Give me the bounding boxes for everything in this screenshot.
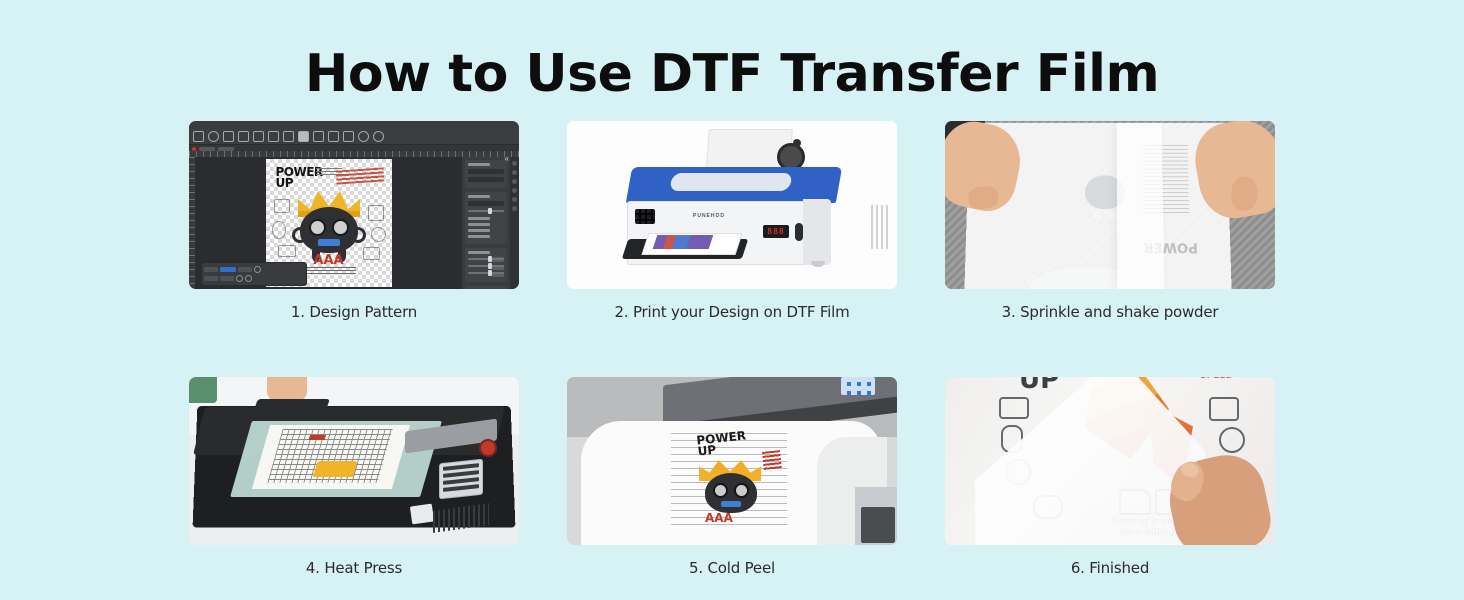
panel-display-row <box>443 484 479 492</box>
printer-brand-label: PUNEHOD <box>693 213 725 219</box>
ghost-eye-left <box>1093 211 1102 220</box>
panel-icon-rail[interactable] <box>510 157 519 289</box>
step-card-3: POWER 3. Sprinkle and shake powder <box>945 121 1275 321</box>
machine-label-tag <box>410 504 434 525</box>
tool-lasso-icon[interactable] <box>253 131 264 142</box>
toolbar-chip[interactable] <box>238 267 252 272</box>
contrast-slider[interactable] <box>468 265 504 267</box>
press-control-panel[interactable] <box>841 377 875 395</box>
toolbar-row[interactable] <box>204 266 304 273</box>
printer-side-knob[interactable] <box>795 223 803 241</box>
tool-scissors-icon[interactable] <box>328 131 339 142</box>
design-red-accent <box>308 435 325 440</box>
panel-slider[interactable] <box>468 210 504 212</box>
design-word-speed: SPEED <box>1200 377 1233 381</box>
page-title: How to Use DTF Transfer Film <box>0 44 1464 104</box>
step-caption-5: 5. Cold Peel <box>567 559 897 577</box>
design-crown <box>313 461 358 477</box>
toolbar-dot-icon[interactable] <box>236 275 243 282</box>
green-chair <box>189 377 217 403</box>
panel-section-label <box>468 251 490 254</box>
artwork-tagline <box>302 267 356 275</box>
app-toolbar[interactable] <box>189 129 519 145</box>
panel-section-label <box>468 195 490 198</box>
toolbar-row[interactable] <box>204 275 304 282</box>
tool-fill-icon[interactable] <box>298 131 309 142</box>
panel-field[interactable] <box>468 201 504 206</box>
infographic-page: How to Use DTF Transfer Film <box>0 0 1464 600</box>
step-card-6: UP ENERGY SPEED <box>945 377 1275 577</box>
printer-scene: PUNEHOD 888 <box>567 121 897 289</box>
doodle-shape <box>371 227 386 242</box>
toolbar-chip[interactable] <box>204 267 218 272</box>
transferred-design: POWERUP AAA <box>671 433 787 529</box>
saturation-slider[interactable] <box>468 272 504 274</box>
printer-body-side <box>803 199 831 265</box>
ghost-eye-right <box>1108 211 1117 220</box>
panel-section-label <box>468 217 490 220</box>
robot-arm-left <box>292 227 308 243</box>
canvas-floating-toolbar[interactable] <box>201 262 307 286</box>
tool-frame-icon[interactable] <box>343 131 354 142</box>
machine-control-panel[interactable] <box>439 459 483 500</box>
cold-peel-scene: POWERUP AAA <box>567 377 897 545</box>
printer-keypad[interactable] <box>635 209 655 224</box>
step-caption-1: 1. Design Pattern <box>189 303 519 321</box>
toolbar-chip[interactable] <box>220 276 234 281</box>
machine-handle[interactable] <box>252 399 330 415</box>
step-card-4: 4. Heat Press <box>189 377 519 577</box>
step-caption-2: 2. Print your Design on DTF Film <box>567 303 897 321</box>
doodle-shape <box>368 205 384 221</box>
app-titlebar <box>189 121 519 129</box>
film-fold <box>1117 123 1165 289</box>
tool-brush-icon[interactable] <box>238 131 249 142</box>
doodle-shape <box>274 199 290 213</box>
press-base-mechanism <box>861 507 895 543</box>
printer-vents <box>871 205 889 249</box>
toolbar-dot-icon[interactable] <box>254 266 261 273</box>
panel-section-label <box>468 223 490 226</box>
doodle-shape <box>272 221 286 239</box>
rail-icon <box>512 170 517 175</box>
design-red-text <box>762 450 782 472</box>
panel-field[interactable] <box>468 177 504 182</box>
step-image-cold-peel[interactable]: POWERUP AAA <box>567 377 897 545</box>
doodle-shape <box>999 397 1029 419</box>
robot-arm-right <box>350 227 366 243</box>
rail-icon <box>512 179 517 184</box>
printer-foot <box>811 261 825 267</box>
panel-field[interactable] <box>468 169 504 174</box>
artwork-monogram: AAA <box>313 253 343 268</box>
design-eye-left <box>713 483 728 498</box>
step-image-finished[interactable]: UP ENERGY SPEED <box>945 377 1275 545</box>
step-card-5: POWERUP AAA <box>567 377 897 577</box>
design-monogram: AAA <box>705 511 733 525</box>
doodle-shape <box>363 247 380 260</box>
tool-pen-icon[interactable] <box>268 131 279 142</box>
toolbar-chip-active[interactable] <box>220 267 236 272</box>
step-caption-3: 3. Sprinkle and shake powder <box>945 303 1275 321</box>
printer-led-display: 888 <box>763 225 789 238</box>
design-robot-head <box>705 473 757 513</box>
panel-section-template[interactable] <box>465 160 507 188</box>
step-card-2: PUNEHOD 888 2. Print your Design on DTF … <box>567 121 897 321</box>
step-card-1: POWERUP <box>189 121 519 321</box>
design-word-up: UP <box>1019 377 1059 395</box>
toolbar-dot-icon[interactable] <box>245 275 252 282</box>
led-digits: 888 <box>767 227 784 236</box>
rail-icon <box>512 206 517 211</box>
collapse-panel-icon[interactable]: « <box>505 154 509 163</box>
robot-eye-right <box>332 219 349 236</box>
steps-row-2: 4. Heat Press POWERUP <box>189 377 1275 577</box>
fingers-left <box>967 185 1000 211</box>
tool-eraser-icon[interactable] <box>283 131 294 142</box>
rail-icon <box>512 188 517 193</box>
steps-row-1: POWERUP <box>189 121 1275 321</box>
step-caption-6: 6. Finished <box>945 559 1275 577</box>
heat-press-scene <box>189 377 519 545</box>
robot-mouth <box>318 239 340 246</box>
design-eye-right <box>734 483 749 498</box>
film-roll-knob <box>793 139 801 147</box>
properties-panel[interactable] <box>462 157 510 289</box>
tool-color-icon[interactable] <box>373 131 384 142</box>
panel-section-threshold[interactable] <box>465 286 507 289</box>
emergency-stop-button[interactable] <box>479 439 497 457</box>
panel-section-label <box>468 229 490 232</box>
finished-scene: UP ENERGY SPEED <box>945 377 1275 545</box>
doodle-shape <box>278 245 296 257</box>
panel-section-adjustments[interactable] <box>465 248 507 282</box>
tool-crop-icon[interactable] <box>223 131 234 142</box>
robot-eye-left <box>309 219 326 236</box>
tool-transform-icon[interactable] <box>313 131 324 142</box>
design-software-window: POWERUP <box>189 121 519 289</box>
tool-zoom-icon[interactable] <box>358 131 369 142</box>
tool-move-icon[interactable] <box>193 131 204 142</box>
step-image-design-pattern[interactable]: POWERUP <box>189 121 519 289</box>
record-dot-icon <box>192 147 196 151</box>
toolbar-chip[interactable] <box>204 276 218 281</box>
printer-lid-window <box>669 173 793 191</box>
panel-section-label <box>468 163 490 166</box>
design-on-film <box>267 429 392 483</box>
powder-scene: POWER <box>945 121 1275 289</box>
doodle-shape <box>1209 397 1239 421</box>
steps-grid: POWERUP <box>189 121 1275 577</box>
step-caption-4: 4. Heat Press <box>189 559 519 577</box>
panel-section-options[interactable] <box>465 192 507 244</box>
step-image-heat-press[interactable] <box>189 377 519 545</box>
step-image-sprinkle-powder[interactable]: POWER <box>945 121 1275 289</box>
rail-icon <box>512 197 517 202</box>
rail-icon <box>512 161 517 166</box>
artwork-script-text <box>335 167 384 184</box>
option-chip[interactable] <box>218 147 234 151</box>
design-mouth <box>721 501 741 507</box>
panel-section-label <box>468 235 490 238</box>
fingers-right <box>1231 176 1258 211</box>
doodle-shape <box>1219 427 1245 453</box>
tool-marquee-icon[interactable] <box>208 131 219 142</box>
printed-design <box>653 235 714 249</box>
brightness-slider[interactable] <box>468 258 504 260</box>
option-chip[interactable] <box>199 147 215 151</box>
step-image-print-design[interactable]: PUNEHOD 888 <box>567 121 897 289</box>
robot-head <box>300 207 358 253</box>
